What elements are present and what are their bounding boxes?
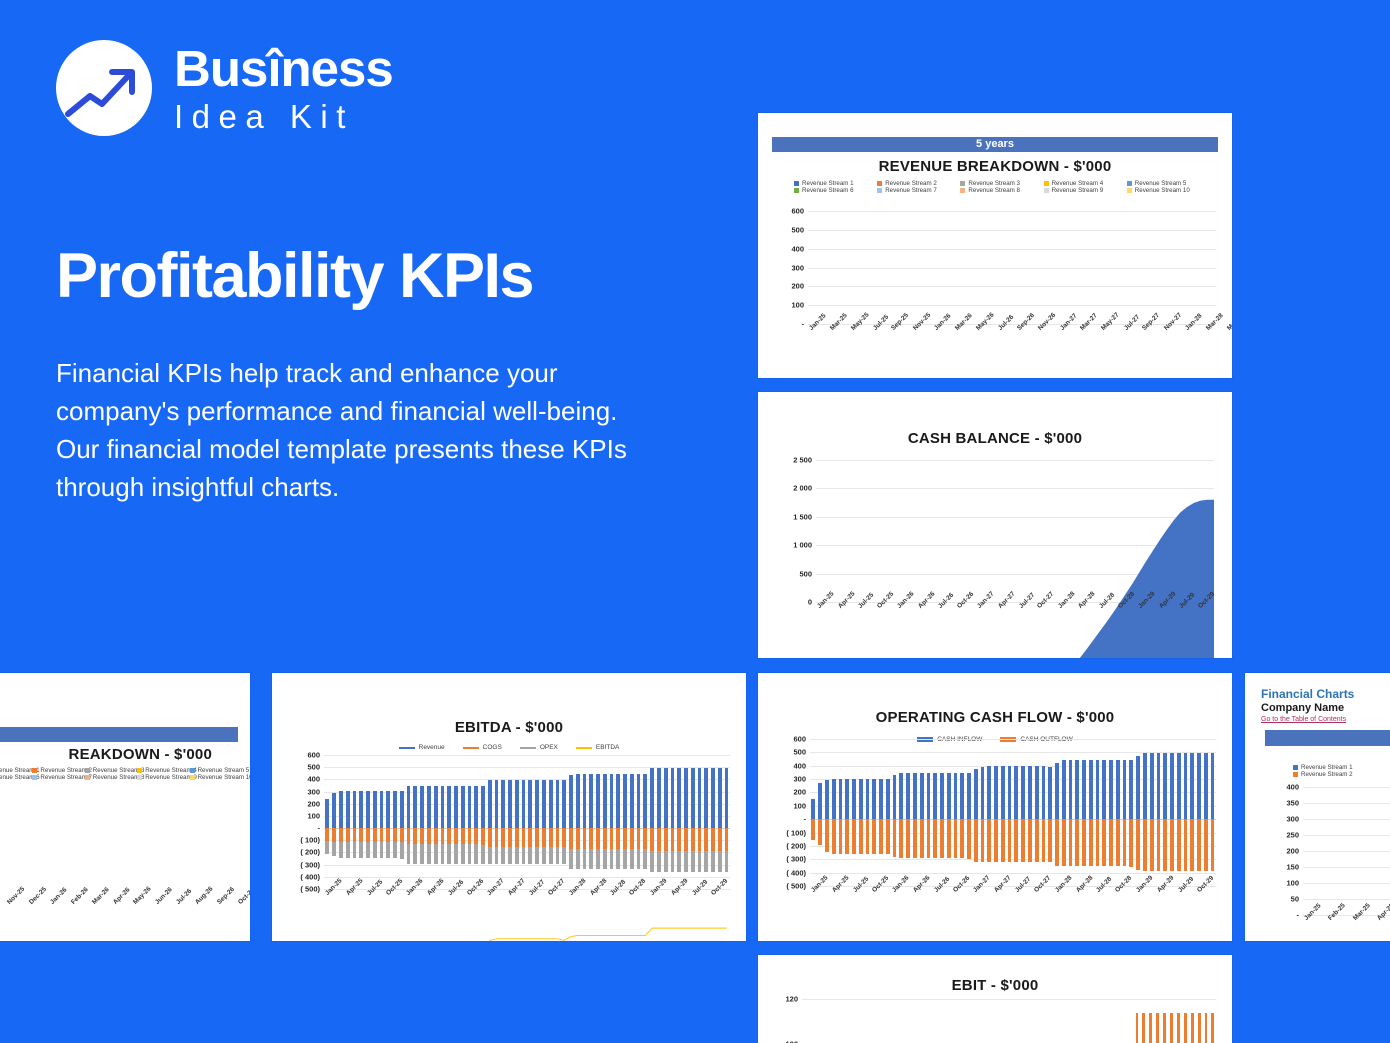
bar-column	[919, 999, 926, 1043]
y-axis-tick-label: 100	[307, 811, 320, 820]
bar-segment	[1136, 756, 1140, 819]
brand-name-line2: Idea Kit	[174, 100, 393, 133]
legend-item: Revenue Stream 8	[956, 187, 1039, 194]
bar-column	[1087, 739, 1094, 886]
legend-item: Revenue Stream 5	[1123, 180, 1206, 187]
bar-series-group	[1303, 787, 1390, 915]
bar-column	[850, 999, 857, 1043]
bar-column	[891, 739, 898, 886]
bar-column	[1099, 999, 1106, 1043]
bar-segment	[839, 779, 843, 819]
bar-column	[1148, 211, 1155, 324]
legend-swatch-icon	[85, 768, 90, 773]
bar-column	[104, 779, 120, 899]
bar-column	[918, 739, 925, 886]
bar-column	[1155, 739, 1162, 886]
legend-item: Revenue	[399, 744, 445, 751]
legend-item: Revenue Stream 1	[790, 180, 873, 187]
bar-column	[1037, 999, 1044, 1043]
legend-label: Revenue Stream 5	[1135, 180, 1187, 187]
bar-segment	[872, 819, 876, 853]
bar-column	[961, 999, 968, 1043]
bar-column	[1039, 211, 1046, 324]
panel-operating-cash-flow: OPERATING CASH FLOW - $'000 CASH INFLOWC…	[758, 673, 1232, 941]
bar-segment	[1157, 819, 1161, 871]
y-axis-tick-label: 400	[793, 761, 806, 770]
bar-column	[1051, 999, 1058, 1043]
bar-column	[1209, 739, 1216, 886]
bar-column	[1209, 211, 1216, 324]
bar-column	[932, 739, 939, 886]
bar-segment	[1069, 760, 1073, 819]
legend-label: Revenue Stream 8	[968, 187, 1020, 194]
panel-ebitda: EBITDA - $'000 RevenueCOGSOPEXEBITDA 600…	[272, 673, 746, 941]
bar-segment	[906, 819, 910, 858]
bar-column	[185, 779, 201, 899]
bar-column	[947, 999, 954, 1043]
legend-swatch-icon	[576, 747, 592, 749]
bar-segment	[920, 819, 924, 858]
bar-segment	[886, 819, 890, 854]
bar-segment	[1116, 819, 1120, 866]
bar-column	[1016, 999, 1023, 1043]
legend-swatch-icon	[877, 181, 882, 186]
bar-column	[885, 999, 892, 1043]
legend-label: OPEX	[540, 744, 558, 751]
bar-segment	[1190, 753, 1194, 819]
legend-item: Revenue Stream 3	[81, 767, 133, 774]
bar-column	[925, 739, 932, 886]
legend-swatch-icon	[877, 188, 882, 193]
chart-title-operating-cash-flow: OPERATING CASH FLOW - $'000	[764, 709, 1226, 726]
bar-column	[1093, 211, 1100, 324]
bar-column	[862, 211, 869, 324]
bar-column	[835, 211, 842, 324]
legend-item: Revenue Stream 10	[1123, 187, 1206, 194]
bar-series-group	[810, 739, 1216, 886]
y-axis-tick-label: 200	[1286, 847, 1299, 856]
y-axis-tick-label: ( 400)	[786, 868, 806, 877]
bar-segment	[1197, 753, 1201, 819]
bar-segment	[1143, 753, 1147, 819]
bar-column	[169, 779, 185, 899]
chart-xaxis: Jan-25Feb-25Mar-25Apr-25May-25Jun-25	[1303, 917, 1390, 924]
bar-segment	[811, 799, 815, 819]
panel-cash-balance: CASH BALANCE - $'000 2 5002 0001 5001 00…	[758, 392, 1232, 658]
bar-segment	[994, 819, 998, 862]
bar-segment	[1170, 819, 1174, 871]
bar-segment	[1149, 1013, 1152, 1043]
legend-item: Revenue Stream 7	[873, 187, 956, 194]
bar-segment	[1035, 819, 1039, 862]
bar-segment	[1163, 753, 1167, 819]
bar-segment	[832, 779, 836, 819]
bar-column	[978, 211, 985, 324]
legend-swatch-icon	[1127, 188, 1132, 193]
bar-column	[876, 211, 883, 324]
bar-column	[979, 739, 986, 886]
bar-column	[1026, 211, 1033, 324]
bar-segment	[987, 819, 991, 862]
bar-column	[6, 779, 22, 899]
bar-segment	[1211, 819, 1215, 871]
y-axis-tick-label: 350	[1286, 799, 1299, 808]
panel-ebit: EBIT - $'000 12010080	[758, 955, 1232, 1043]
chart-title-ebitda: EBITDA - $'000	[278, 719, 740, 736]
bar-segment	[1048, 767, 1052, 820]
y-axis-tick-label: -	[1297, 911, 1300, 920]
legend-label: Revenue Stream 7	[885, 187, 937, 194]
bar-column	[830, 739, 837, 886]
y-axis-tick-label: 400	[307, 775, 320, 784]
legend-label: Revenue Stream 2	[885, 180, 937, 187]
bar-column	[1196, 739, 1203, 886]
bar-column	[1203, 999, 1210, 1043]
bar-segment	[967, 819, 971, 859]
bar-segment	[1143, 819, 1147, 871]
bar-column	[1064, 999, 1071, 1043]
bar-segment	[1042, 766, 1046, 819]
bar-column	[1135, 739, 1142, 886]
bar-column	[1175, 211, 1182, 324]
bar-segment	[1157, 753, 1161, 819]
bar-column	[1148, 739, 1155, 886]
bar-segment	[981, 767, 985, 820]
bar-segment	[879, 819, 883, 853]
period-band-24-months: 24 months	[0, 727, 238, 742]
bar-segment	[1014, 819, 1018, 862]
bar-column	[1114, 211, 1121, 324]
y-axis-tick-label: 500	[307, 763, 320, 772]
bar-column	[55, 779, 71, 899]
bar-column	[71, 779, 87, 899]
bar-column	[944, 211, 951, 324]
y-axis-tick-label: 200	[793, 788, 806, 797]
chart-title-ebit: EBIT - $'000	[764, 977, 1226, 994]
y-axis-tick-label: 2 500	[793, 456, 812, 465]
legend-swatch-icon	[1044, 181, 1049, 186]
bar-column	[988, 999, 995, 1043]
bar-segment	[839, 819, 843, 853]
bar-column	[218, 779, 234, 899]
bar-column	[1100, 211, 1107, 324]
legend-label: EBITDA	[596, 744, 619, 751]
bar-segment	[1163, 819, 1167, 871]
y-axis-tick-label: 100	[793, 801, 806, 810]
bar-column	[1175, 999, 1182, 1043]
bar-column	[998, 211, 1005, 324]
bar-column	[1209, 999, 1216, 1043]
bar-column	[1121, 739, 1128, 886]
bar-segment	[1096, 819, 1100, 866]
legend-swatch-icon	[463, 747, 479, 749]
chart-title-revenue-breakdown: REVENUE BREAKDOWN - $'000	[764, 158, 1226, 175]
bar-column	[120, 779, 136, 899]
x-axis-tick-label: Oct-26	[237, 887, 250, 906]
legend-item: Revenue Stream 9	[1040, 187, 1123, 194]
logo-growth-chart-arrow-icon	[56, 40, 152, 136]
bar-column	[995, 999, 1002, 1043]
bar-column	[972, 739, 979, 886]
bar-segment	[954, 819, 958, 858]
bar-column	[1168, 999, 1175, 1043]
bar-column	[1047, 739, 1054, 886]
bar-column	[864, 999, 871, 1043]
bar-segment	[1008, 766, 1012, 819]
bar-column	[1059, 211, 1066, 324]
bar-column	[201, 779, 217, 899]
bar-column	[1376, 787, 1390, 915]
bar-column	[1134, 999, 1141, 1043]
bar-column	[1027, 739, 1034, 886]
bar-segment	[1204, 819, 1208, 871]
bar-segment	[1184, 1013, 1187, 1043]
chart-title-cash-balance: CASH BALANCE - $'000	[764, 430, 1226, 447]
bar-column	[971, 211, 978, 324]
bar-segment	[1028, 766, 1032, 819]
legend-item: Revenue Stream 3	[956, 180, 1039, 187]
bar-column	[1147, 999, 1154, 1043]
bar-column	[864, 739, 871, 886]
bar-series-group	[802, 999, 1216, 1043]
bar-column	[1002, 999, 1009, 1043]
panel-financial-charts-sheet: Financial Charts Company Name Go to the …	[1245, 673, 1390, 941]
bar-segment	[1177, 819, 1181, 871]
bar-segment	[1136, 819, 1140, 870]
bar-column	[871, 999, 878, 1043]
bar-column	[808, 211, 815, 324]
bar-column	[1155, 211, 1162, 324]
y-axis-tick-label: 300	[307, 787, 320, 796]
bar-segment	[933, 773, 937, 819]
panel-revenue-breakdown-24m: 24 months REAKDOWN - $'000 Revenue Strea…	[0, 673, 250, 941]
bar-segment	[852, 779, 856, 819]
bar-segment	[1184, 753, 1188, 819]
bar-column	[1175, 739, 1182, 886]
bar-segment	[1069, 819, 1073, 866]
bar-column	[1060, 739, 1067, 886]
panel-revenue-breakdown-5y: 5 years REVENUE BREAKDOWN - $'000 Revenu…	[758, 113, 1232, 378]
bar-column	[815, 211, 822, 324]
bar-column	[924, 211, 931, 324]
bar-column	[1087, 211, 1094, 324]
legend-label: Revenue Stream 9	[1052, 187, 1104, 194]
bar-segment	[818, 819, 822, 845]
legend-label: Revenue Stream 1	[802, 180, 854, 187]
legend-item: Revenue Stream 4	[133, 767, 185, 774]
bar-column	[1080, 211, 1087, 324]
bar-column	[1182, 739, 1189, 886]
bar-column	[87, 779, 103, 899]
bar-column	[892, 999, 899, 1043]
bar-column	[910, 211, 917, 324]
y-axis-tick-label: 500	[799, 569, 812, 578]
bar-column	[878, 739, 885, 886]
bar-column	[1066, 211, 1073, 324]
bar-column	[1033, 739, 1040, 886]
bar-segment	[859, 819, 863, 853]
legend-item: OPEX	[520, 744, 558, 751]
bar-segment	[866, 819, 870, 853]
bar-segment	[940, 819, 944, 858]
bar-column	[1030, 999, 1037, 1043]
bar-column	[1189, 739, 1196, 886]
chart-xaxis: Jan-25Apr-25Jul-25Oct-25Jan-26Apr-26Jul-…	[810, 889, 1216, 896]
bar-segment	[954, 773, 958, 819]
legend-swatch-icon	[1044, 188, 1049, 193]
bar-column	[816, 999, 823, 1043]
bar-column	[982, 999, 989, 1043]
bar-segment	[1123, 819, 1127, 866]
legend-item: COGS	[463, 744, 502, 751]
legend-label: Revenue	[419, 744, 445, 751]
bar-column	[899, 999, 906, 1043]
x-axis-tick-label	[1217, 605, 1222, 610]
y-axis-tick-label: 500	[791, 225, 804, 234]
bar-column	[896, 211, 903, 324]
chart-plot-ebitda: 600500400300200100-( 100)( 200)( 300)( 4…	[324, 755, 730, 889]
chart-plot-revenue-breakdown-24m	[6, 779, 234, 899]
bar-column	[842, 211, 849, 324]
bar-column	[933, 999, 940, 1043]
bar-segment	[872, 779, 876, 819]
period-band-5-years: 5 years	[772, 137, 1218, 152]
x-axis-tick-label	[1217, 605, 1222, 610]
bar-segment	[947, 773, 951, 819]
bar-column	[1107, 211, 1114, 324]
bar-segment	[1142, 1013, 1145, 1043]
y-axis-tick-label: -	[802, 320, 805, 329]
legend-item: Revenue Stream 2	[28, 767, 80, 774]
legend-label: Revenue Stream 2	[1301, 771, 1353, 778]
bar-column	[1182, 999, 1189, 1043]
bar-column	[851, 739, 858, 886]
bar-segment	[893, 819, 897, 857]
bar-segment	[893, 775, 897, 819]
bar-column	[837, 739, 844, 886]
bar-column	[849, 211, 856, 324]
chart-legend: Revenue Stream 1Revenue Stream 2Revenue …	[790, 180, 1206, 194]
legend-swatch-icon	[399, 747, 415, 749]
chart-plot-mini-revenue: 40035030025020015010050-	[1303, 787, 1390, 915]
bar-column	[1127, 999, 1134, 1043]
bar-segment	[1102, 760, 1106, 819]
legend-swatch-icon	[1293, 772, 1298, 777]
bar-column	[1054, 739, 1061, 886]
bar-column	[1128, 739, 1135, 886]
chart-xaxis: Nov-25Dec-25Jan-26Feb-26Mar-26Apr-26May-…	[6, 901, 234, 908]
bar-column	[1303, 787, 1327, 915]
ebitda-line-series	[324, 755, 730, 941]
y-axis-tick-label: 400	[791, 244, 804, 253]
legend-item: Revenue Stream 2	[1289, 771, 1390, 778]
chart-xaxis: Jan-25Apr-25Jul-25Oct-25Jan-26Apr-26Jul-…	[324, 892, 730, 899]
bar-column	[1140, 999, 1147, 1043]
bar-column	[986, 739, 993, 886]
bar-column	[1127, 211, 1134, 324]
legend-label: Revenue Stream 3	[968, 180, 1020, 187]
bar-segment	[845, 819, 849, 853]
bar-column	[1044, 999, 1051, 1043]
bar-segment	[886, 779, 890, 819]
legend-swatch-icon	[190, 768, 195, 773]
bar-column	[871, 739, 878, 886]
bar-segment	[940, 773, 944, 819]
bar-column	[1202, 739, 1209, 886]
gridline	[808, 324, 1216, 325]
legend-label: Revenue Stream 1	[1301, 764, 1353, 771]
bar-segment	[933, 819, 937, 858]
bar-segment	[1109, 760, 1113, 819]
bar-column	[1094, 739, 1101, 886]
bar-segment	[1048, 819, 1052, 862]
bar-column	[1162, 739, 1169, 886]
period-band	[1265, 730, 1390, 746]
bar-column	[1085, 999, 1092, 1043]
bar-segment	[832, 819, 836, 853]
bar-segment	[825, 780, 829, 819]
bar-column	[954, 999, 961, 1043]
legend-item: Revenue Stream 4	[1040, 180, 1123, 187]
bar-column	[913, 999, 920, 1043]
bar-segment	[852, 819, 856, 853]
y-axis-tick-label: -	[318, 824, 321, 833]
bar-column	[926, 999, 933, 1043]
bar-column	[878, 999, 885, 1043]
bar-column	[937, 211, 944, 324]
bar-column	[856, 211, 863, 324]
sheet-heading: Financial Charts	[1261, 687, 1390, 701]
bar-column	[1121, 211, 1128, 324]
bar-segment	[1163, 1013, 1166, 1043]
bar-column	[809, 999, 816, 1043]
legend-item: Revenue Stream 2	[873, 180, 956, 187]
bar-column	[884, 739, 891, 886]
chart-title-revenue-breakdown-24m: REAKDOWN - $'000	[0, 746, 244, 763]
bar-column	[822, 211, 829, 324]
bar-column	[1081, 739, 1088, 886]
y-axis-tick-label: 500	[793, 748, 806, 757]
bar-segment	[1055, 819, 1059, 866]
bar-column	[153, 779, 169, 899]
legend-item: Revenue Stream 6	[790, 187, 873, 194]
bar-segment	[1102, 819, 1106, 866]
bar-segment	[1177, 1013, 1180, 1043]
bar-segment	[927, 819, 931, 858]
y-axis-tick-label: 250	[1286, 831, 1299, 840]
bar-column	[890, 211, 897, 324]
bar-segment	[1055, 763, 1059, 820]
bar-segment	[1008, 819, 1012, 862]
bar-column	[1142, 739, 1149, 886]
chart-legend: Revenue Stream 1Revenue Stream 2	[1289, 764, 1390, 778]
bar-column	[824, 739, 831, 886]
bar-column	[1161, 999, 1168, 1043]
bar-column	[903, 211, 910, 324]
bar-column	[958, 211, 965, 324]
bar-segment	[1096, 760, 1100, 819]
bar-column	[1013, 739, 1020, 886]
bar-segment	[899, 819, 903, 858]
bar-column	[817, 739, 824, 886]
bar-segment	[1156, 1013, 1159, 1043]
bar-segment	[1014, 766, 1018, 819]
table-of-contents-link[interactable]: Go to the Table of Contents	[1261, 716, 1390, 723]
bar-column	[1071, 999, 1078, 1043]
bar-column	[1074, 739, 1081, 886]
bar-segment	[1197, 819, 1201, 871]
bar-column	[844, 739, 851, 886]
